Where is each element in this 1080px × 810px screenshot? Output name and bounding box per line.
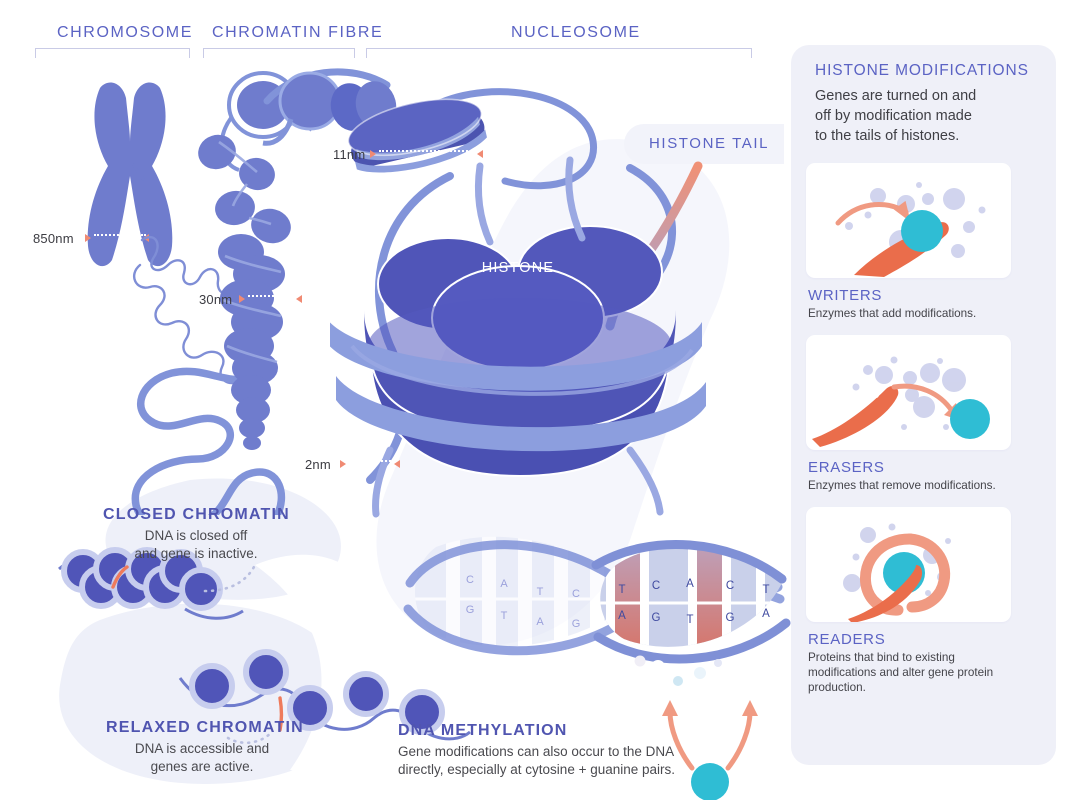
svg-text:C: C	[572, 588, 580, 600]
writers-arrow-icon	[806, 163, 1011, 278]
card-writers[interactable]	[806, 163, 1011, 278]
svg-text:T: T	[686, 614, 693, 626]
dimension-arrow-right-2nm	[394, 460, 400, 468]
dimension-label-2nm: 2nm	[305, 457, 331, 472]
dimension-arrow-right-30nm	[296, 295, 302, 303]
section-header-chromatin-fibre: CHROMATIN FIBRE	[212, 24, 383, 42]
relaxed-chromatin-title: RELAXED CHROMATIN	[106, 719, 304, 737]
dimension-arrow-left-850nm	[85, 234, 91, 242]
bracket-chromosome	[35, 48, 190, 58]
card-erasers[interactable]	[806, 335, 1011, 450]
histone-modifications-panel: HISTONE MODIFICATIONS Genes are turned o…	[791, 45, 1056, 765]
svg-text:C: C	[726, 580, 734, 592]
card-readers-desc: Proteins that bind to existing modificat…	[808, 651, 1016, 696]
svg-text:A: A	[762, 608, 770, 620]
svg-text:A: A	[536, 616, 544, 628]
svg-text:G: G	[466, 604, 475, 616]
dimension-label-850nm: 850nm	[33, 231, 74, 246]
svg-text:A: A	[500, 578, 508, 590]
card-erasers-desc: Enzymes that remove modifications.	[808, 479, 1038, 494]
histone-core-label: HISTONE	[482, 260, 555, 276]
svg-text:G: G	[572, 618, 581, 630]
panel-title: HISTONE MODIFICATIONS	[815, 62, 1029, 80]
svg-text:G: G	[726, 612, 735, 624]
relaxed-chromatin-desc: DNA is accessible and genes are active.	[96, 740, 308, 776]
svg-text:T: T	[501, 610, 508, 622]
dimension-arrow-left-2nm	[340, 460, 346, 468]
relaxed-chromatin-desc-line2: genes are active.	[96, 758, 308, 776]
infographic-root: CHROMOSOME CHROMATIN FIBRE NUCLEOSOME 85…	[0, 0, 1080, 810]
closed-chromatin-title: CLOSED CHROMATIN	[103, 506, 290, 524]
section-header-chromosome: CHROMOSOME	[57, 24, 193, 42]
closed-chromatin-desc-line1: DNA is closed off	[96, 527, 296, 545]
readers-spiral-icon	[806, 507, 1011, 622]
dimension-line-2nm	[349, 460, 395, 469]
dimension-arrow-left-30nm	[239, 295, 245, 303]
panel-intro-line2: off by modification made	[815, 106, 1025, 126]
svg-text:T: T	[762, 584, 769, 596]
svg-text:T: T	[537, 586, 544, 598]
closed-chromatin-desc: DNA is closed off and gene is inactive.	[96, 527, 296, 563]
dimension-label-30nm: 30nm	[199, 292, 232, 307]
dna-methylation-desc-line1: Gene modifications can also occur to the…	[398, 743, 678, 761]
methyl-group-dot	[691, 763, 729, 800]
card-readers-title: READERS	[808, 631, 885, 648]
relaxed-chromatin-desc-line1: DNA is accessible and	[96, 740, 308, 758]
svg-text:C: C	[466, 574, 474, 586]
dna-methylation-title: DNA METHYLATION	[398, 722, 567, 740]
dna-methylation-desc-line2: directly, especially at cytosine + guani…	[398, 761, 678, 779]
svg-text:C: C	[652, 580, 660, 592]
card-writers-title: WRITERS	[808, 287, 882, 304]
closed-chromatin-desc-line2: and gene is inactive.	[96, 545, 296, 563]
section-header-nucleosome: NUCLEOSOME	[511, 24, 641, 42]
svg-text:A: A	[686, 578, 694, 590]
dna-methylation-desc: Gene modifications can also occur to the…	[398, 743, 678, 779]
panel-intro-line1: Genes are turned on and	[815, 86, 1025, 106]
svg-text:G: G	[652, 612, 661, 624]
panel-intro: Genes are turned on and off by modificat…	[815, 86, 1025, 146]
card-readers[interactable]	[806, 507, 1011, 622]
svg-text:T: T	[618, 584, 625, 596]
card-writers-desc: Enzymes that add modifications.	[808, 307, 1033, 322]
nucleosome-core-figure: HISTONE	[330, 150, 750, 530]
card-erasers-title: ERASERS	[808, 459, 885, 476]
erasers-arrow-icon	[806, 335, 1011, 450]
panel-intro-line3: to the tails of histones.	[815, 126, 1025, 146]
svg-text:A: A	[618, 610, 626, 622]
dimension-line-30nm	[248, 295, 298, 304]
